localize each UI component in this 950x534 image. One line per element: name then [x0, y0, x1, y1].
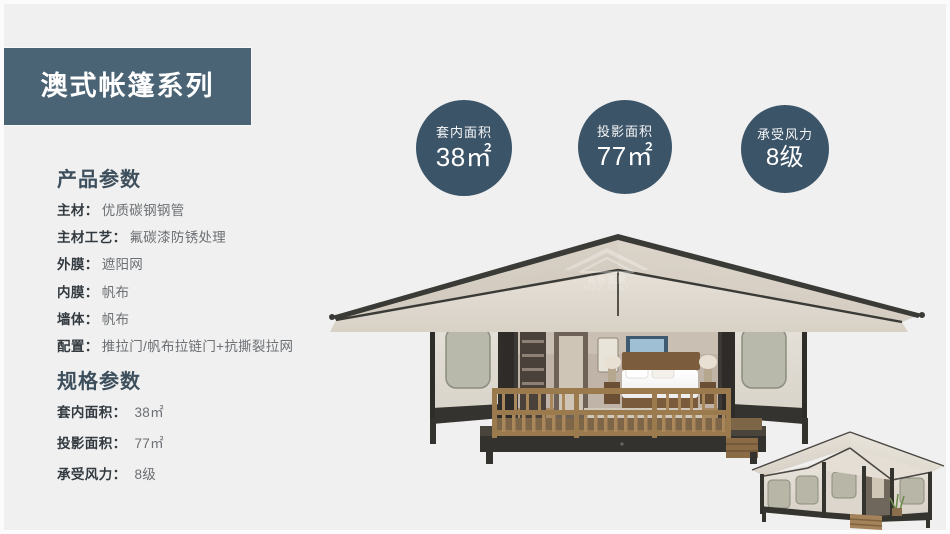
stat-badge-value: 8级 — [766, 146, 804, 170]
stat-badge-label: 承受风力 — [757, 128, 813, 141]
size-parameters-heading: 规格参数 — [57, 370, 164, 394]
stat-badge-projected-area: 投影面积 77㎡ — [578, 100, 672, 194]
tent-secondary-image — [746, 422, 950, 534]
stat-badge-interior-area: 套内面积 38㎡ — [416, 100, 512, 196]
stat-badge-label: 投影面积 — [597, 125, 653, 138]
spec-row: 套内面积： 38㎡ — [57, 404, 164, 422]
title-banner: 澳式帐篷系列 — [4, 48, 251, 125]
page-title: 澳式帐篷系列 — [41, 73, 215, 100]
product-parameters-block: 产品参数 主材： 优质碳钢钢管 主材工艺： 氟碳漆防锈处理 外膜： 遮阳网 内膜… — [57, 168, 293, 365]
spec-value: 帆布 — [102, 284, 130, 302]
slide-root: 澳式帐篷系列 产品参数 主材： 优质碳钢钢管 主材工艺： 氟碳漆防锈处理 外膜：… — [0, 0, 950, 534]
spec-value: 帆布 — [102, 311, 130, 329]
spec-row: 投影面积： 77㎡ — [57, 435, 164, 453]
spec-value: 氟碳漆防锈处理 — [130, 229, 227, 247]
stat-badge-wind-resistance: 承受风力 8级 — [741, 105, 829, 193]
stat-badge-label: 套内面积 — [436, 126, 492, 139]
tent-angled-view-illustration — [746, 422, 950, 534]
spec-label: 墙体： — [57, 311, 99, 329]
spec-label: 主材工艺： — [57, 229, 127, 247]
spec-row: 承受风力： 8级 — [57, 466, 164, 484]
spec-value: 38㎡ — [135, 404, 164, 422]
spec-value: 推拉门/帆布拉链门+抗撕裂拉网 — [102, 338, 294, 356]
spec-label: 承受风力： — [57, 466, 127, 484]
spec-row: 配置： 推拉门/帆布拉链门+抗撕裂拉网 — [57, 338, 293, 356]
spec-row: 内膜： 帆布 — [57, 284, 293, 302]
spec-row: 主材： 优质碳钢钢管 — [57, 202, 293, 220]
spec-label: 配置： — [57, 338, 99, 356]
spec-label: 套内面积： — [57, 404, 127, 422]
spec-label: 外膜： — [57, 256, 99, 274]
spec-value: 优质碳钢钢管 — [102, 202, 185, 220]
stat-badge-value: 77㎡ — [597, 143, 653, 169]
spec-label: 主材： — [57, 202, 99, 220]
spec-label: 投影面积： — [57, 435, 127, 453]
product-parameters-heading: 产品参数 — [57, 168, 293, 192]
spec-value: 遮阳网 — [102, 256, 143, 274]
spec-value: 77㎡ — [135, 435, 164, 453]
stat-badge-value: 38㎡ — [436, 144, 492, 170]
spec-row: 外膜： 遮阳网 — [57, 256, 293, 274]
spec-value: 8级 — [135, 466, 157, 484]
spec-row: 主材工艺： 氟碳漆防锈处理 — [57, 229, 293, 247]
spec-label: 内膜： — [57, 284, 99, 302]
spec-row: 墙体： 帆布 — [57, 311, 293, 329]
size-parameters-block: 规格参数 套内面积： 38㎡ 投影面积： 77㎡ 承受风力： 8级 — [57, 370, 164, 498]
